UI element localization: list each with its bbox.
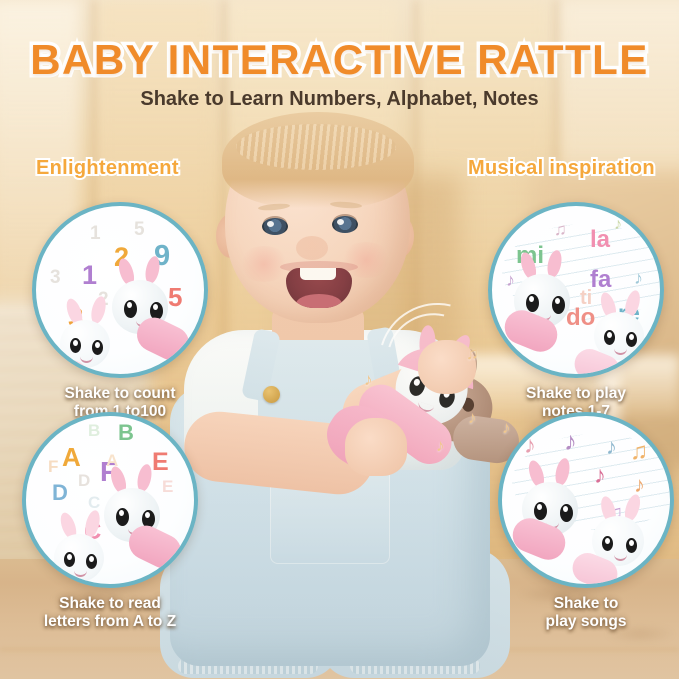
rattle-eye	[534, 502, 547, 520]
rattle-eye	[552, 296, 565, 314]
letter-token: D	[52, 482, 68, 504]
solfege-token: fa	[590, 268, 611, 292]
caption-line: Shake to read	[22, 595, 198, 613]
rattle-eye	[70, 338, 81, 353]
letter-token: E	[152, 450, 169, 475]
caption-line: Shake to	[498, 595, 674, 613]
music-note-icon: ♪	[594, 462, 606, 490]
rattle-eye	[124, 300, 137, 318]
music-note-icon: ♪	[564, 426, 577, 457]
caption-line: Shake to play	[488, 385, 664, 403]
solfege-token-faded: ti	[580, 288, 592, 308]
caption-line: play songs	[498, 613, 674, 631]
number-token: 5	[168, 284, 182, 310]
letter-token: B	[118, 422, 134, 444]
number-token-faded: 5	[134, 220, 145, 239]
music-note-icon: ♪	[506, 270, 515, 291]
feature-card-count[interactable]: 1 2 9 5 3 1 5 3 2 Shake to count f	[32, 202, 208, 422]
feature-card-songs[interactable]: ♪ ♪ ♪ ♫ ♪ ♪ ♫ Shake to play songs	[498, 412, 674, 632]
feature-caption: Shake to play songs	[498, 595, 674, 632]
number-token-faded: 3	[50, 268, 61, 287]
feature-caption: Shake to read letters from A to Z	[22, 595, 198, 632]
music-note-icon: ♪	[614, 216, 622, 234]
rattle-eye	[86, 554, 97, 569]
letter-token-faded: E	[162, 478, 173, 495]
feature-bubble: A F E B D C F B A D C E	[22, 412, 198, 588]
caption-line: letters from A to Z	[22, 613, 198, 631]
music-note-icon: ♫	[630, 438, 648, 466]
rattle-eye	[602, 536, 613, 551]
music-note-icon: ♪	[634, 268, 643, 289]
feature-bubble: 1 2 9 5 3 1 5 3 2	[32, 202, 208, 378]
rattle-eye	[116, 508, 129, 526]
music-note-icon: ♪	[606, 434, 617, 460]
letter-token-faded: B	[88, 422, 100, 439]
feature-bubble: ♪ ♪ ♪ ♫ ♪ ♪ ♫	[498, 412, 674, 588]
music-note-icon: ♪	[524, 432, 536, 460]
feature-card-notes[interactable]: mi la fa re do ti ♪ ♪ ♫ ♪ Shake t	[488, 202, 664, 422]
letter-token-faded: D	[78, 472, 90, 489]
number-token-faded: 1	[90, 224, 101, 243]
rattle-eye	[526, 294, 539, 312]
rattle-eye	[560, 504, 573, 522]
rattle-eye	[626, 538, 637, 553]
section-label-enlightenment: Enlightenment	[36, 157, 179, 180]
letter-token: A	[62, 444, 81, 470]
rattle-eye	[92, 340, 103, 355]
rattle-eye	[604, 330, 615, 345]
solfege-token: do	[566, 306, 595, 330]
page-subtitle: Shake to Learn Numbers, Alphabet, Notes	[0, 88, 679, 111]
feature-bubble: mi la fa re do ti ♪ ♪ ♫ ♪	[488, 202, 664, 378]
caption-line: Shake to count	[32, 385, 208, 403]
page-title: BABY INTERACTIVE RATTLE	[0, 36, 679, 84]
solfege-token: la	[590, 228, 610, 252]
letter-token-faded: F	[48, 458, 58, 475]
music-note-icon: ♫	[554, 220, 567, 240]
number-token: 1	[82, 262, 97, 289]
rattle-eye	[64, 552, 75, 567]
letter-token-faded: C	[88, 494, 100, 511]
rattle-eye	[626, 332, 637, 347]
section-label-musical-inspiration: Musical inspiration	[468, 157, 655, 180]
feature-card-letters[interactable]: A F E B D C F B A D C E Sh	[22, 412, 198, 632]
